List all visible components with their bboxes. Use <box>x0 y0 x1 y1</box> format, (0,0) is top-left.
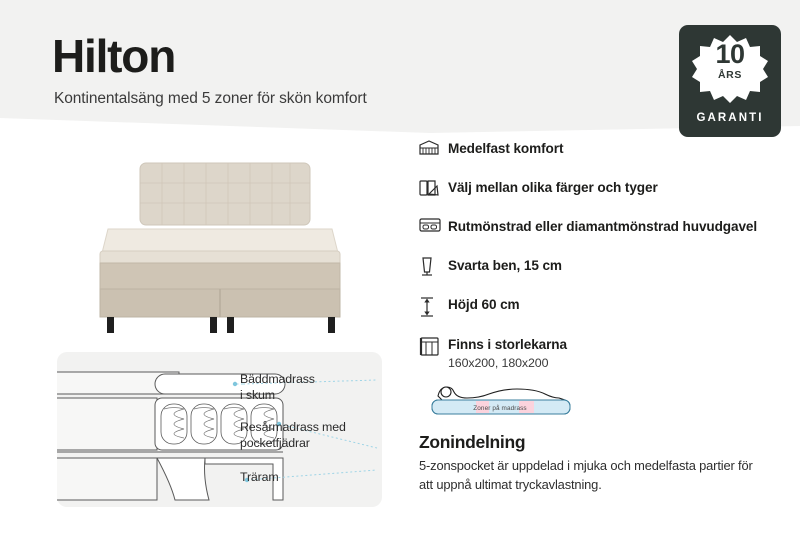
feature-row: Medelfast komfort <box>418 138 788 162</box>
cross-label-line: Resårmadrass med <box>240 420 346 434</box>
warranty-label: GARANTI <box>679 112 781 124</box>
feature-label: Höjd 60 cm <box>448 297 520 312</box>
zone-illustration <box>420 368 600 424</box>
cross-label-spring-mattress: Resårmadrass med pocketfjädrar <box>240 420 346 451</box>
page-subtitle: Kontinentalsäng med 5 zoner för skön kom… <box>54 90 367 108</box>
fabric-swatches-icon <box>418 177 448 198</box>
feature-row: Höjd 60 cm <box>418 294 788 319</box>
zone-section-title: Zonindelning <box>419 432 525 453</box>
cross-label-top-mattress: Bäddmadrass i skum <box>240 372 315 403</box>
cross-label-line: pocketfjädrar <box>240 436 310 450</box>
cross-label-line: Träram <box>240 470 279 484</box>
mattress-firmness-icon <box>418 138 448 157</box>
warranty-years-label: ÅRS <box>679 69 781 81</box>
feature-list: Medelfast komfort Välj mellan olika färg… <box>418 138 788 385</box>
feature-label: Medelfast komfort <box>448 141 563 156</box>
feature-row: Svarta ben, 15 cm <box>418 255 788 279</box>
feature-label: Svarta ben, 15 cm <box>448 258 562 273</box>
bed-leg-icon <box>418 255 448 278</box>
feature-label: Välj mellan olika färger och tyger <box>448 180 658 195</box>
product-photo <box>62 145 382 335</box>
feature-row: Rutmönstrad eller diamantmönstrad huvudg… <box>418 216 788 240</box>
page-title: Hilton <box>52 33 175 79</box>
cross-label-line: Bäddmadrass <box>240 372 315 386</box>
warranty-number: 10 <box>679 39 781 70</box>
zone-figure-caption: Zoner på madrass <box>420 405 580 412</box>
feature-label: Rutmönstrad eller diamantmönstrad huvudg… <box>448 219 757 234</box>
zone-section-description: 5-zonspocket är uppdelad i mjuka och med… <box>419 457 759 494</box>
headboard-icon <box>418 216 448 233</box>
feature-row: Välj mellan olika färger och tyger <box>418 177 788 201</box>
warranty-badge: 10 ÅRS GARANTI <box>679 25 781 137</box>
feature-label: Finns i storlekarna <box>448 337 567 352</box>
cross-label-line: i skum <box>240 388 275 402</box>
cross-label-wood-frame: Träram <box>240 470 279 486</box>
feature-row: Finns i storlekarna 160x200, 180x200 <box>418 334 788 370</box>
bed-size-icon <box>418 334 448 357</box>
height-arrow-icon <box>418 294 448 319</box>
